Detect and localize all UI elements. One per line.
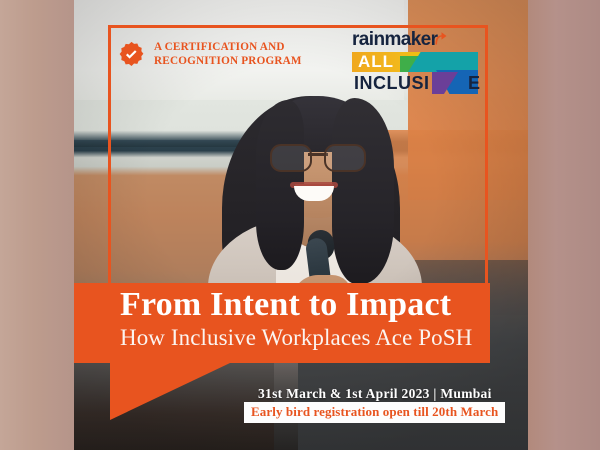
backdrop-left-band	[0, 0, 76, 450]
backdrop-right-band	[526, 0, 600, 450]
rainmaker-wordmark-text: rainmaker	[352, 30, 437, 49]
poster-headline: From Intent to Impact	[120, 287, 500, 322]
early-bird-badge: Early bird registration open till 20th M…	[244, 402, 505, 423]
rainmaker-wordmark: rainmaker	[352, 30, 480, 49]
tagline-line-1: A CERTIFICATION AND	[154, 41, 285, 53]
headline-banner-tail	[110, 363, 230, 420]
logo-inclusive-tail: E	[468, 72, 480, 94]
logo-inclusive-text: INCLUSI	[354, 72, 430, 94]
screenshot-canvas: A CERTIFICATION AND RECOGNITION PROGRAM …	[0, 0, 600, 450]
certification-badge-row: A CERTIFICATION AND RECOGNITION PROGRAM	[118, 40, 302, 68]
event-poster: A CERTIFICATION AND RECOGNITION PROGRAM …	[74, 0, 528, 450]
tagline-line-2: RECOGNITION PROGRAM	[154, 55, 302, 67]
logo-all-text: ALL	[358, 52, 394, 72]
verified-badge-check-icon	[118, 41, 145, 68]
event-date-venue: 31st March & 1st April 2023 | Mumbai	[258, 386, 492, 402]
rainmaker-all-inclusive-logo: rainmaker ALL INCLUSI E	[352, 30, 480, 94]
logo-color-bars: ALL INCLUSI E	[352, 52, 480, 94]
arrow-up-right-icon	[434, 30, 447, 45]
certification-tagline: A CERTIFICATION AND RECOGNITION PROGRAM	[154, 40, 302, 68]
logo-inclusive-row: INCLUSI E	[352, 72, 480, 94]
poster-subheadline: How Inclusive Workplaces Ace PoSH	[120, 325, 510, 350]
